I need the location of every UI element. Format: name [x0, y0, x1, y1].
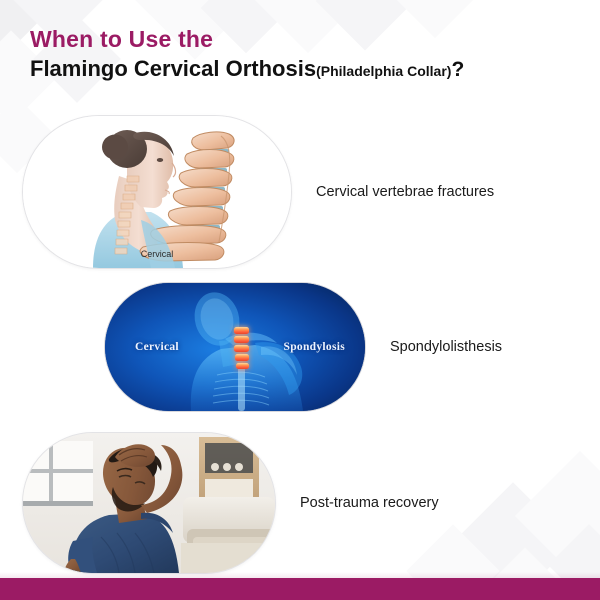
- title-question-mark: ?: [451, 58, 464, 81]
- list-item-label-post-trauma-recovery: Post-trauma recovery: [300, 495, 439, 511]
- diamond-shape: [515, 451, 600, 581]
- list-item-label-spondylolisthesis: Spondylolisthesis: [390, 339, 502, 355]
- cervical-vertebrae-illustration: [23, 116, 291, 268]
- list-item: Post-trauma recovery: [22, 432, 439, 574]
- spondylolisthesis-image-card: Cervical Spondylosis: [104, 282, 366, 412]
- neck-stretch-photograph: [23, 433, 275, 573]
- post-trauma-recovery-image-card: [22, 432, 276, 574]
- title-line-1: When to Use the: [30, 26, 464, 52]
- xray-overlay-label-left: Cervical: [135, 341, 179, 353]
- image-caption: Cervical: [23, 249, 291, 259]
- list-item-label-cervical-vertebrae-fractures: Cervical vertebrae fractures: [316, 184, 494, 200]
- footer-bar: [0, 578, 600, 600]
- cervical-fracture-image-card: Cervical: [22, 115, 292, 269]
- list-item: Cervical Spondylosis Spondylolisthesis: [104, 282, 502, 412]
- title-subtitle: (Philadelphia Collar): [316, 63, 451, 79]
- xray-overlay-label-right: Spondylosis: [284, 341, 345, 353]
- title-product-name: Flamingo Cervical Orthosis: [30, 56, 316, 81]
- page-title: When to Use the Flamingo Cervical Orthos…: [30, 26, 464, 83]
- list-item: Cervical Cervical vertebrae fractures: [22, 115, 494, 269]
- poster: When to Use the Flamingo Cervical Orthos…: [0, 0, 600, 600]
- title-line-2: Flamingo Cervical Orthosis(Philadelphia …: [30, 56, 464, 82]
